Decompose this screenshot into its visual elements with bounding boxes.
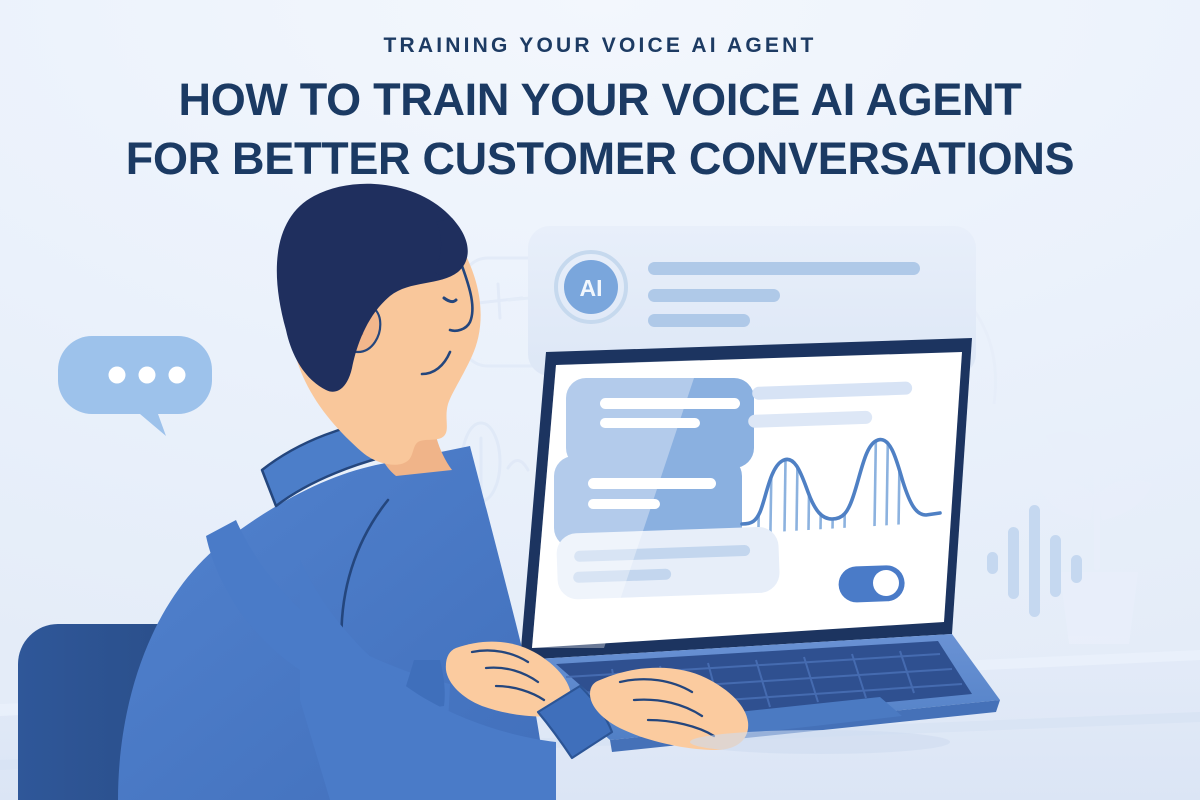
voice-mode-toggle[interactable] [838, 565, 905, 603]
headline-line-2: FOR BETTER CUSTOMER CONVERSATIONS [0, 130, 1200, 189]
ai-badge-label: AI [580, 275, 603, 301]
typing-indicator-bubble [58, 336, 212, 436]
ai-avatar-badge: AI [556, 252, 626, 322]
eyebrow-text: TRAINING YOUR VOICE AI AGENT [0, 34, 1200, 58]
hero-header: TRAINING YOUR VOICE AI AGENT HOW TO TRAI… [0, 0, 1200, 189]
page-title: HOW TO TRAIN YOUR VOICE AI AGENT FOR BET… [0, 71, 1200, 189]
laptop-shadow [690, 730, 950, 754]
illustration-stage: AI [0, 0, 1200, 800]
headline-line-1: HOW TO TRAIN YOUR VOICE AI AGENT [0, 71, 1200, 130]
typing-dots [109, 367, 186, 384]
